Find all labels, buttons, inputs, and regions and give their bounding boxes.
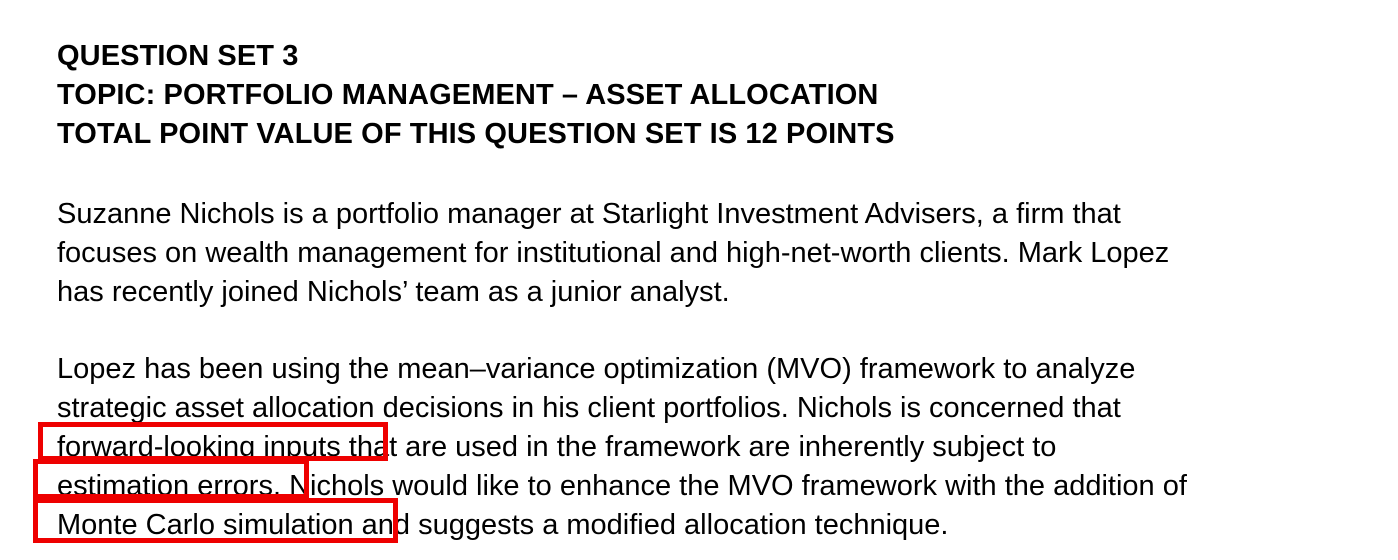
question-set-heading: QUESTION SET 3 TOPIC: PORTFOLIO MANAGEME…: [57, 37, 1357, 154]
heading-line-question-set: QUESTION SET 3: [57, 37, 1357, 76]
highlight-box-monte-carlo-simulation[interactable]: [33, 498, 398, 543]
document-page: QUESTION SET 3 TOPIC: PORTFOLIO MANAGEME…: [0, 0, 1398, 560]
highlight-box-forward-looking-inputs[interactable]: [38, 422, 388, 461]
paragraph-vignette-intro: Suzanne Nichols is a portfolio manager a…: [57, 195, 1377, 312]
highlight-box-estimation-errors[interactable]: [33, 459, 309, 499]
paragraph-1-line-2: focuses on wealth management for institu…: [57, 234, 1377, 273]
heading-line-point-value: TOTAL POINT VALUE OF THIS QUESTION SET I…: [57, 115, 1357, 154]
heading-line-topic: TOPIC: PORTFOLIO MANAGEMENT – ASSET ALLO…: [57, 76, 1357, 115]
paragraph-1-line-1: Suzanne Nichols is a portfolio manager a…: [57, 195, 1377, 234]
paragraph-1-line-3: has recently joined Nichols’ team as a j…: [57, 273, 1377, 312]
paragraph-2-line-1: Lopez has been using the mean–variance o…: [57, 350, 1377, 389]
